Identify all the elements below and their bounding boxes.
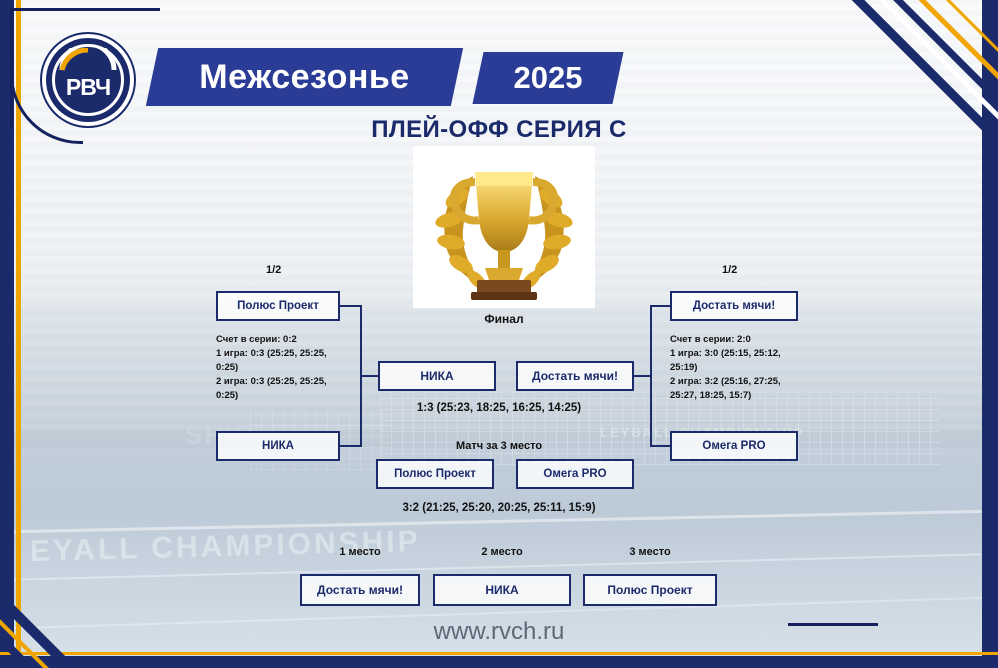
poster-canvas: EYALL CHAMPIONSHIP LEYBALL CHAMPIONSHIP … bbox=[0, 0, 998, 668]
series-info-line: Счет в серии: 2:0 bbox=[670, 333, 830, 347]
bracket-team-right-top[interactable]: Достать мячи! bbox=[670, 291, 798, 321]
trophy-image bbox=[413, 146, 595, 308]
place-label-1: 1 место bbox=[300, 546, 420, 558]
logo-arcs-icon bbox=[58, 48, 118, 74]
third-place-score: 3:2 (21:25, 25:20, 20:25, 25:11, 15:9) bbox=[0, 502, 998, 514]
trophy-icon bbox=[413, 146, 595, 308]
bracket-winner-right[interactable]: Достать мячи! bbox=[516, 361, 634, 391]
standings-team-1[interactable]: Достать мячи! bbox=[300, 574, 420, 606]
bracket-connector bbox=[360, 375, 378, 377]
bracket-winner-left[interactable]: НИКА bbox=[378, 361, 496, 391]
series-info-line: 25:19) bbox=[670, 361, 830, 375]
series-info-line: 25:27, 18:25, 15:7) bbox=[670, 389, 830, 403]
bracket-team-left-top[interactable]: Полюс Проект bbox=[216, 291, 340, 321]
semifinal-left-label: 1/2 bbox=[266, 264, 281, 276]
poster-title: Межсезонье bbox=[152, 48, 457, 106]
series-info-line: 0:25) bbox=[216, 389, 366, 403]
standings-team-3[interactable]: Полюс Проект bbox=[583, 574, 717, 606]
corner-decoration-topright bbox=[768, 0, 998, 190]
third-place-team-right[interactable]: Омега PRO bbox=[516, 459, 634, 489]
poster-year: 2025 bbox=[478, 52, 618, 104]
club-logo: РВЧ bbox=[46, 38, 130, 122]
final-score: 1:3 (25:23, 18:25, 16:25, 14:25) bbox=[0, 402, 998, 414]
series-info-right: Счет в серии: 2:0 1 игра: 3:0 (25:15, 25… bbox=[670, 333, 830, 403]
website-url: www.rvch.ru bbox=[0, 618, 998, 646]
place-label-2: 2 место bbox=[442, 546, 562, 558]
series-info-line: 1 игра: 3:0 (25:15, 25:12, bbox=[670, 347, 830, 361]
stage-title: ПЛЕЙ-ОФФ СЕРИЯ C bbox=[0, 116, 998, 144]
final-label: Финал bbox=[413, 312, 595, 326]
bracket-connector bbox=[634, 375, 652, 377]
diagonal-stripes-icon bbox=[768, 0, 998, 190]
series-info-line: 0:25) bbox=[216, 361, 366, 375]
bracket-connector bbox=[340, 305, 362, 307]
logo-text: РВЧ bbox=[66, 74, 110, 101]
third-place-team-left[interactable]: Полюс Проект bbox=[376, 459, 494, 489]
semifinal-right-label: 1/2 bbox=[722, 264, 737, 276]
bracket-connector bbox=[650, 305, 672, 307]
series-info-line: 1 игра: 0:3 (25:25, 25:25, bbox=[216, 347, 366, 361]
series-info-line: 2 игра: 3:2 (25:16, 27:25, bbox=[670, 375, 830, 389]
standings-team-2[interactable]: НИКА bbox=[433, 574, 571, 606]
series-info-left: Счет в серии: 0:2 1 игра: 0:3 (25:25, 25… bbox=[216, 333, 366, 403]
series-info-line: 2 игра: 0:3 (25:25, 25:25, bbox=[216, 375, 366, 389]
series-info-line: Счет в серии: 0:2 bbox=[216, 333, 366, 347]
third-place-title: Матч за 3 место bbox=[0, 440, 998, 452]
place-label-3: 3 место bbox=[590, 546, 710, 558]
